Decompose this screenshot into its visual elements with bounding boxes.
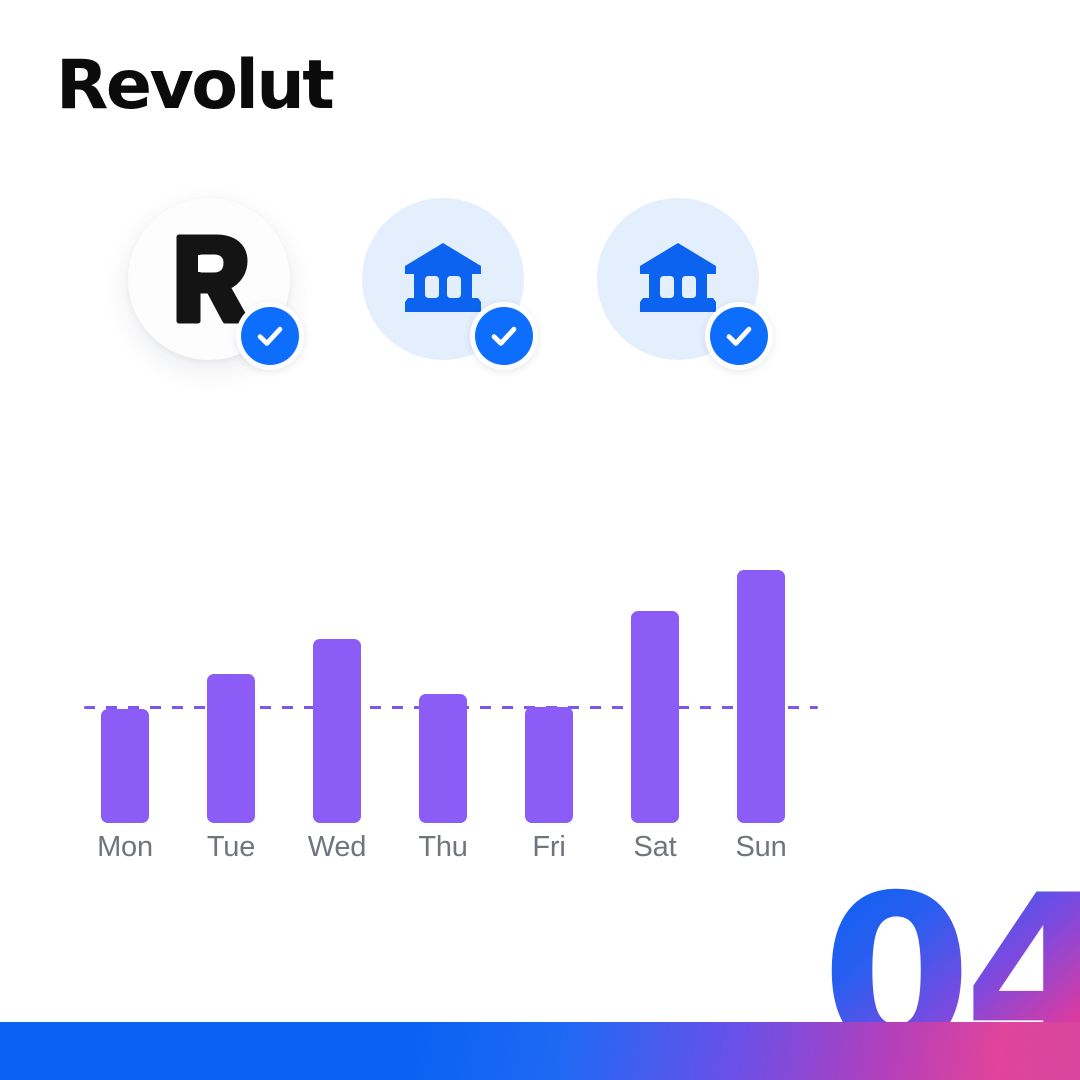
verified-badge (236, 302, 304, 370)
check-icon (487, 319, 521, 353)
chart-x-label: Tue (181, 830, 281, 864)
chart-x-label: Mon (75, 830, 175, 864)
chart-bar (419, 694, 467, 823)
account-item-bank-2[interactable] (597, 198, 759, 360)
verified-badge-disc (475, 307, 533, 365)
bank-icon (636, 240, 720, 318)
chart-x-label: Wed (287, 830, 387, 864)
chart-bar (525, 707, 573, 823)
linked-accounts-row (0, 190, 1080, 390)
chart-x-label: Sat (605, 830, 705, 864)
chart-x-label: Sun (711, 830, 811, 864)
bank-icon (401, 240, 485, 318)
chart-x-label: Thu (393, 830, 493, 864)
verified-badge-disc (241, 307, 299, 365)
chart-x-label: Fri (499, 830, 599, 864)
footer-accent-bar (0, 1022, 1080, 1080)
chart-bar (631, 611, 679, 823)
verified-badge (705, 302, 773, 370)
chart-bar (313, 639, 361, 823)
account-item-revolut[interactable] (128, 198, 290, 360)
check-icon (253, 319, 287, 353)
verified-badge (470, 302, 538, 370)
brand-wordmark: Revolut (56, 52, 332, 120)
chart-bar (737, 570, 785, 823)
weekly-activity-chart: MonTueWedThuFriSatSun (84, 545, 844, 885)
revolut-r-icon (165, 231, 253, 327)
slide-canvas: Revolut (0, 0, 1080, 1080)
chart-bar (207, 674, 255, 823)
chart-plot (84, 545, 844, 823)
chart-x-axis-labels: MonTueWedThuFriSatSun (84, 830, 844, 870)
account-item-bank-1[interactable] (362, 198, 524, 360)
verified-badge-disc (710, 307, 768, 365)
check-icon (722, 319, 756, 353)
chart-bar (101, 709, 149, 823)
